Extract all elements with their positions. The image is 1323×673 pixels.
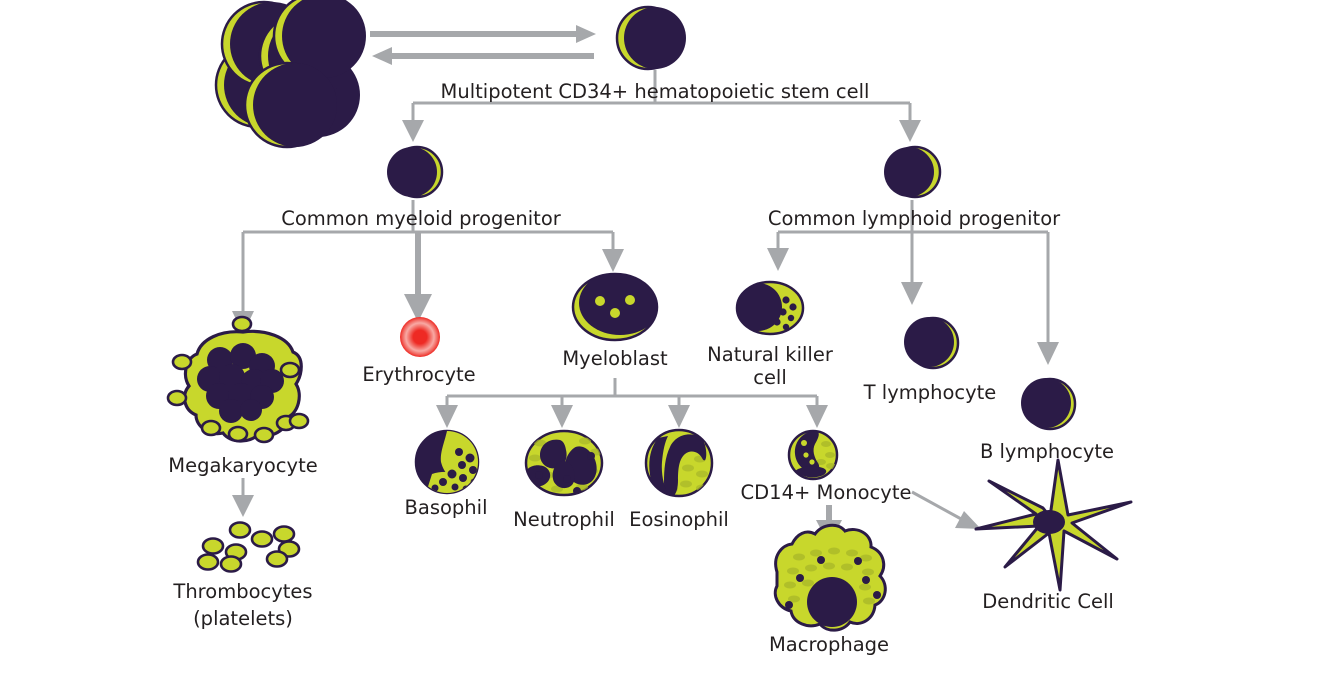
- edge-cluster-to-stemcell: [370, 25, 596, 65]
- label-dendritic-cell: Dendritic Cell: [982, 590, 1114, 613]
- erythrocyte-cell: [400, 317, 440, 357]
- macrophage-cell: [775, 525, 885, 630]
- edge-megakaryocyte-to-thrombocytes: [232, 478, 254, 517]
- label-lymphoid-progenitor: Common lymphoid progenitor: [768, 207, 1061, 230]
- label-neutrophil: Neutrophil: [513, 508, 615, 531]
- myeloblast-cell: [573, 271, 661, 340]
- label-stem-cell: Multipotent CD34+ hematopoietic stem cel…: [441, 80, 870, 103]
- label-erythrocyte: Erythrocyte: [362, 363, 475, 386]
- diagram-canvas: Multipotent CD34+ hematopoietic stem cel…: [0, 0, 1323, 673]
- label-megakaryocyte: Megakaryocyte: [168, 454, 317, 477]
- megakaryocyte-cell: [168, 317, 308, 442]
- eosinophil-cell: [646, 430, 712, 497]
- label-t-lymphocyte: T lymphocyte: [863, 381, 997, 404]
- label-nk-cell-line2: cell: [753, 366, 787, 389]
- label-eosinophil: Eosinophil: [629, 508, 729, 531]
- label-thrombocytes-line1: Thrombocytes: [172, 580, 312, 603]
- common-myeloid-progenitor-cell: [387, 147, 442, 197]
- label-nk-cell-line1: Natural killer: [707, 343, 834, 366]
- label-monocyte: CD14+ Monocyte: [741, 481, 912, 504]
- hematopoiesis-diagram: Multipotent CD34+ hematopoietic stem cel…: [0, 0, 1323, 673]
- stem-cell-single: [617, 7, 686, 69]
- b-lymphocyte-cell: [1021, 378, 1075, 429]
- label-b-lymphocyte: B lymphocyte: [980, 440, 1114, 463]
- basophil-cell: [416, 431, 478, 493]
- label-basophil: Basophil: [405, 496, 488, 519]
- thrombocytes-cells: [198, 523, 299, 572]
- monocyte-cell: [789, 431, 837, 479]
- label-macrophage: Macrophage: [769, 633, 889, 656]
- label-myeloid-progenitor: Common myeloid progenitor: [281, 207, 562, 230]
- diagram-labels: Multipotent CD34+ hematopoietic stem cel…: [168, 80, 1114, 656]
- edge-monocyte-to-dendritic: [912, 492, 981, 529]
- dendritic-cell: [976, 460, 1131, 590]
- neutrophil-cell: [525, 431, 602, 495]
- label-thrombocytes-line2: (platelets): [193, 607, 293, 630]
- t-lymphocyte-cell: [904, 317, 958, 368]
- natural-killer-cell: [734, 282, 803, 334]
- common-lymphoid-progenitor-cell: [884, 147, 940, 197]
- stem-cell-cluster: [216, 0, 366, 147]
- label-myeloblast: Myeloblast: [562, 347, 668, 370]
